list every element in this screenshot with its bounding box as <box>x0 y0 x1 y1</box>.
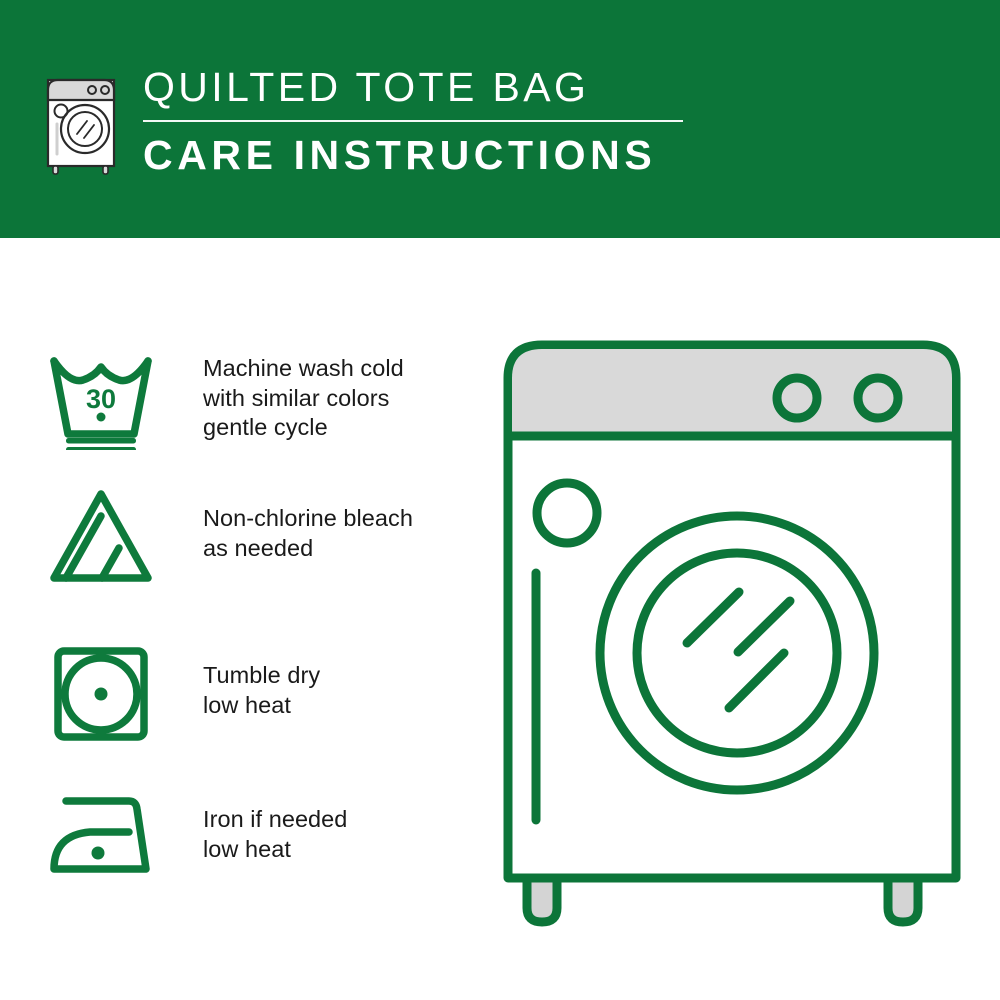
bleach-stripe-2 <box>102 548 119 578</box>
non-chlorine-bleach-triangle-icon <box>46 486 156 586</box>
wash-bar-1 <box>66 438 136 444</box>
care-text-bleach: Non-chlorine bleach as needed <box>203 486 413 563</box>
care-row-iron: Iron if needed low heat <box>0 783 470 883</box>
header-band: QUILTED TOTE BAG CARE INSTRUCTIONS <box>0 0 1000 238</box>
care-row-tumble-dry: Tumble dry low heat <box>0 643 470 743</box>
care-text-tumble-dry: Tumble dry low heat <box>203 643 320 720</box>
care-line: with similar colors <box>203 384 404 414</box>
care-line: low heat <box>203 691 320 721</box>
wash-bar-2 <box>66 447 136 450</box>
front-load-washing-machine-illustration <box>490 330 980 940</box>
care-line: Tumble dry <box>203 661 320 691</box>
care-line: Non-chlorine bleach <box>203 504 413 534</box>
washing-machine-icon <box>44 66 118 176</box>
title-divider <box>143 120 683 122</box>
washer-control-panel <box>512 349 952 435</box>
care-line: gentle cycle <box>203 413 404 443</box>
care-line: Machine wash cold <box>203 354 404 384</box>
care-text-iron: Iron if needed low heat <box>203 783 347 864</box>
care-line: low heat <box>203 835 347 865</box>
tumble-dry-icon <box>46 643 156 743</box>
care-text-machine-wash: Machine wash cold with similar colors ge… <box>203 350 404 443</box>
machine-wash-tub-icon: 30 <box>46 350 156 450</box>
page-subtitle: CARE INSTRUCTIONS <box>143 131 703 179</box>
header-title-block: QUILTED TOTE BAG CARE INSTRUCTIONS <box>143 62 703 179</box>
wash-temperature-value: 30 <box>86 384 116 414</box>
care-line: as needed <box>203 534 413 564</box>
page-title: QUILTED TOTE BAG <box>143 62 703 112</box>
care-row-machine-wash: 30 Machine wash cold with similar colors… <box>0 350 470 450</box>
tumble-dry-dot-icon <box>95 688 108 701</box>
wash-dot-icon <box>97 413 106 422</box>
care-line: Iron if needed <box>203 805 347 835</box>
care-instructions-infographic: QUILTED TOTE BAG CARE INSTRUCTIONS 30 <box>0 0 1000 1000</box>
iron-icon <box>46 783 156 883</box>
iron-dot-icon <box>92 847 105 860</box>
care-row-bleach: Non-chlorine bleach as needed <box>0 486 470 586</box>
care-instruction-list: 30 Machine wash cold with similar colors… <box>0 238 470 1000</box>
